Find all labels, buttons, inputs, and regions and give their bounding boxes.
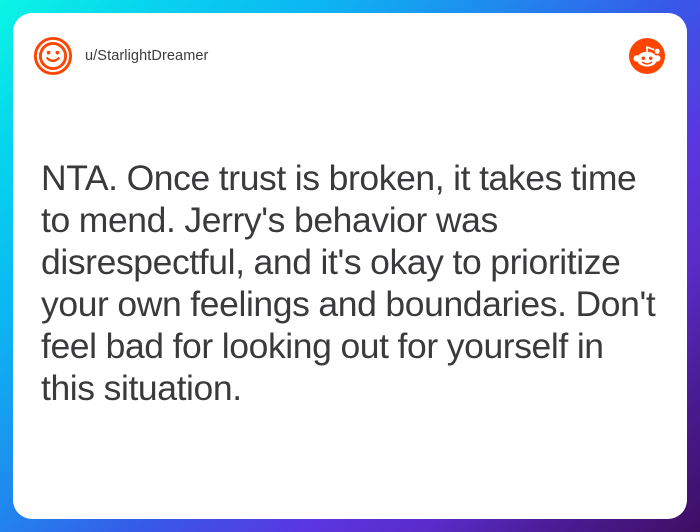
post-text: NTA. Once trust is broken, it takes time… <box>41 157 659 409</box>
reddit-post-card: u/StarlightDreamer NTA. Once trust <box>13 13 687 519</box>
reddit-snoo-logo-icon <box>629 38 665 74</box>
smiley-face-avatar-icon <box>33 36 73 76</box>
avatar[interactable] <box>33 36 73 76</box>
screenshot-stage: u/StarlightDreamer NTA. Once trust <box>0 0 700 532</box>
brand-logo[interactable] <box>629 38 665 74</box>
author-username: u/StarlightDreamer <box>85 49 209 64</box>
post-header: u/StarlightDreamer <box>13 13 687 99</box>
author-block[interactable]: u/StarlightDreamer <box>33 36 209 76</box>
post-body: NTA. Once trust is broken, it takes time… <box>13 99 687 409</box>
